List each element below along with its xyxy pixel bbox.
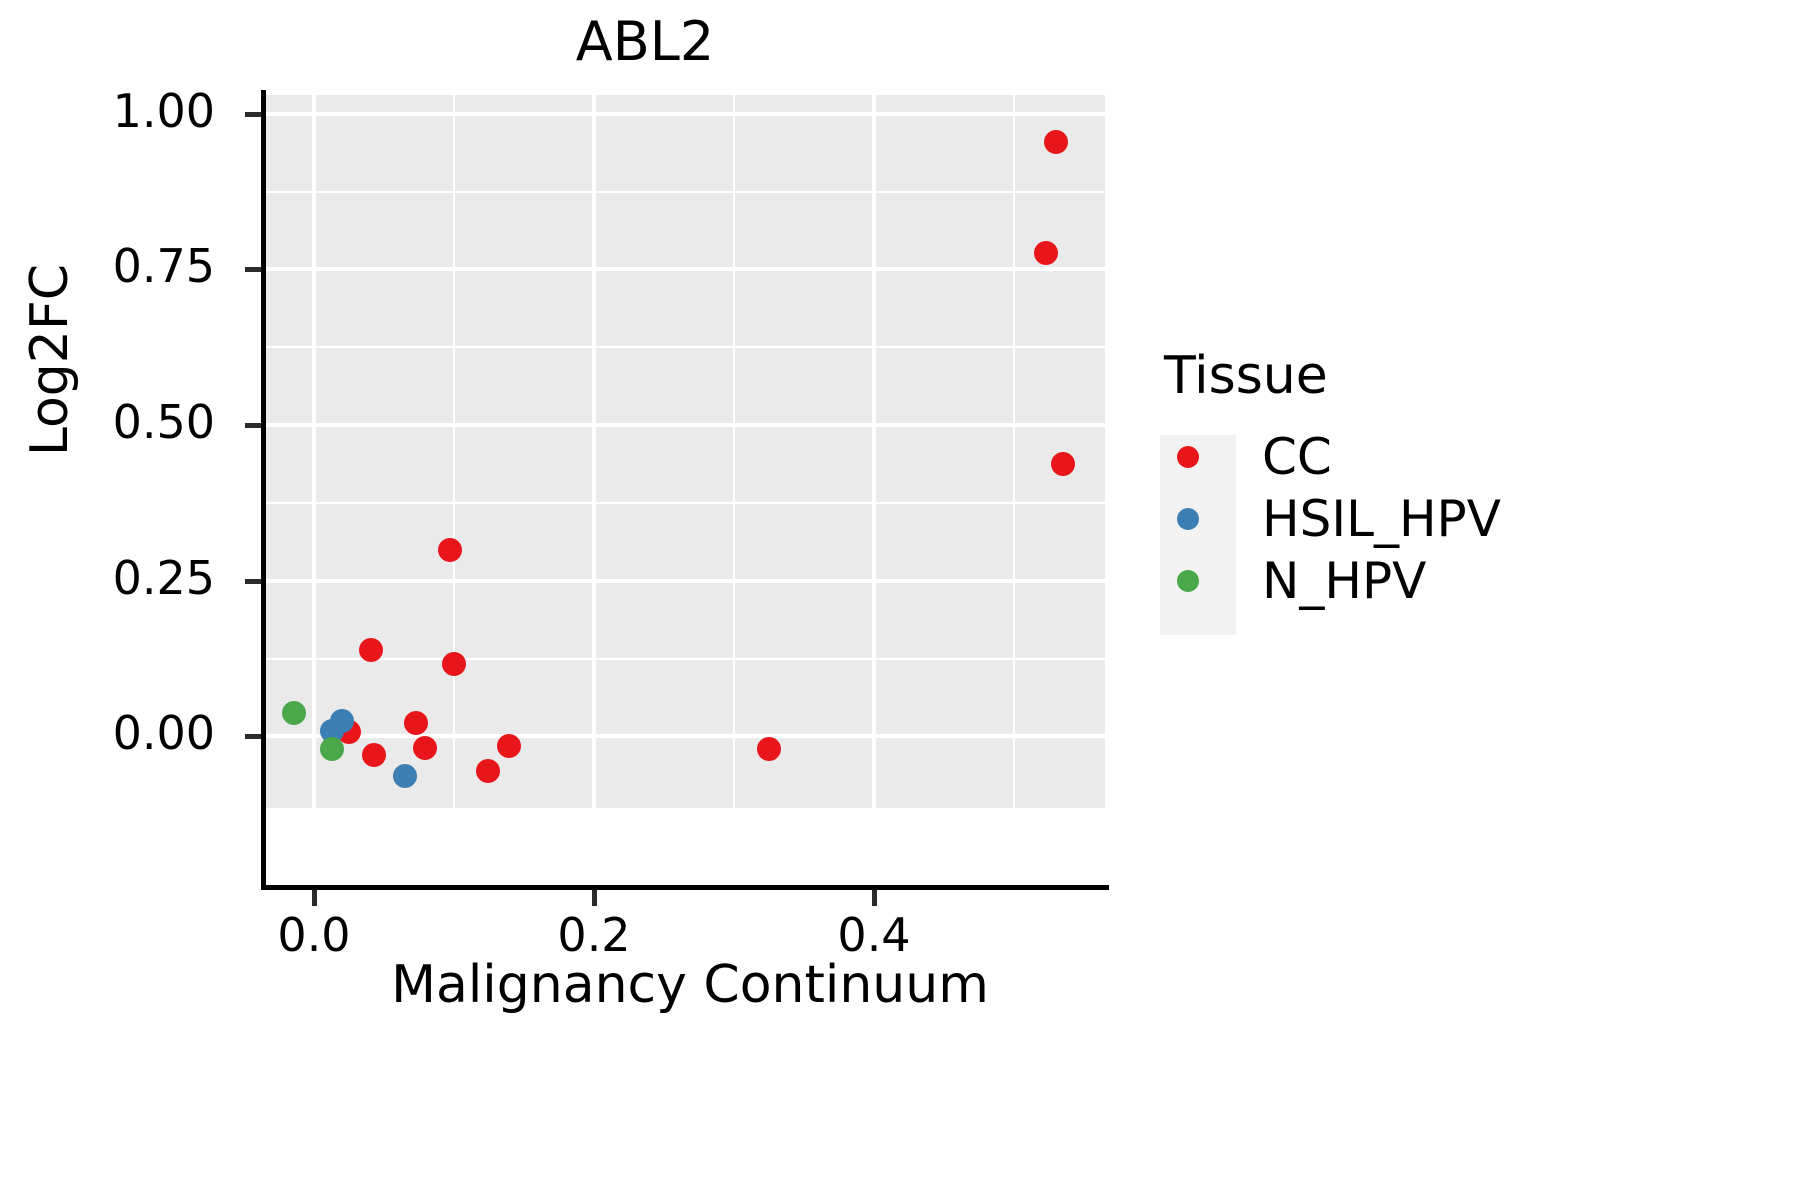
gridline-horizontal-minor (265, 346, 1105, 348)
legend-swatch (1150, 488, 1226, 550)
legend-swatch (1150, 550, 1226, 612)
data-point-cc (1051, 452, 1075, 476)
data-point-cc (497, 734, 521, 758)
gridline-horizontal-minor (265, 813, 1105, 815)
gridline-horizontal-major (265, 579, 1105, 583)
plot-panel (265, 95, 1105, 808)
y-tick-label: 1.00 (55, 88, 215, 134)
legend-swatch (1150, 426, 1226, 488)
y-axis-line (261, 90, 266, 890)
data-point-cc (442, 652, 466, 676)
data-point-cc (1044, 130, 1068, 154)
x-tick-mark (872, 890, 877, 906)
legend-entries: CCHSIL_HPVN_HPV (1150, 426, 1770, 612)
legend: Tissue CCHSIL_HPVN_HPV (1150, 350, 1770, 612)
chart-root: ABL2 0.000.250.500.751.00 0.00.20.4 Log2… (0, 0, 1800, 1200)
y-tick-mark (245, 423, 261, 428)
y-tick-mark (245, 267, 261, 272)
data-point-cc (404, 711, 428, 735)
x-tick-mark (592, 890, 597, 906)
legend-label: HSIL_HPV (1262, 494, 1501, 544)
gridline-horizontal-major (265, 267, 1105, 271)
x-tick-label: 0.2 (514, 912, 674, 958)
y-tick-mark (245, 579, 261, 584)
x-tick-mark (312, 890, 317, 906)
data-point-n_hpv (282, 701, 306, 725)
gridline-horizontal-minor (265, 658, 1105, 660)
y-tick-mark (245, 112, 261, 117)
gridline-vertical-minor (733, 95, 735, 808)
legend-title: Tissue (1164, 350, 1770, 402)
legend-label: N_HPV (1262, 556, 1426, 606)
legend-entry[interactable]: N_HPV (1150, 550, 1770, 612)
gridline-vertical-minor (173, 95, 175, 808)
data-point-cc (413, 736, 437, 760)
data-point-cc (438, 538, 462, 562)
gridline-vertical-major (312, 95, 316, 808)
x-axis-title: Malignancy Continuum (200, 955, 1180, 1015)
legend-dot-icon (1177, 508, 1199, 530)
y-tick-label: 0.00 (55, 710, 215, 756)
y-axis-title: Log2FC (20, 160, 80, 560)
data-point-cc (757, 737, 781, 761)
legend-dot-icon (1177, 446, 1199, 468)
legend-entry[interactable]: HSIL_HPV (1150, 488, 1770, 550)
legend-label: CC (1262, 432, 1332, 482)
y-tick-label: 0.25 (55, 555, 215, 601)
data-point-hsil_hpv (393, 764, 417, 788)
chart-title: ABL2 (0, 10, 1290, 73)
gridline-horizontal-minor (265, 191, 1105, 193)
gridline-vertical-minor (1013, 95, 1015, 808)
data-point-cc (1034, 241, 1058, 265)
x-tick-label: 0.4 (794, 912, 954, 958)
x-axis-line (261, 885, 1109, 890)
gridline-horizontal-major (265, 734, 1105, 738)
gridline-horizontal-major (265, 423, 1105, 427)
x-tick-label: 0.0 (234, 912, 394, 958)
data-point-cc (362, 743, 386, 767)
gridline-vertical-major (592, 95, 596, 808)
data-point-cc (476, 759, 500, 783)
legend-dot-icon (1177, 570, 1199, 592)
gridline-vertical-major (872, 95, 876, 808)
y-tick-mark (245, 734, 261, 739)
gridline-horizontal-minor (265, 502, 1105, 504)
gridline-vertical-minor (453, 95, 455, 808)
data-point-n_hpv (320, 737, 344, 761)
gridline-horizontal-major (265, 112, 1105, 116)
legend-entry[interactable]: CC (1150, 426, 1770, 488)
